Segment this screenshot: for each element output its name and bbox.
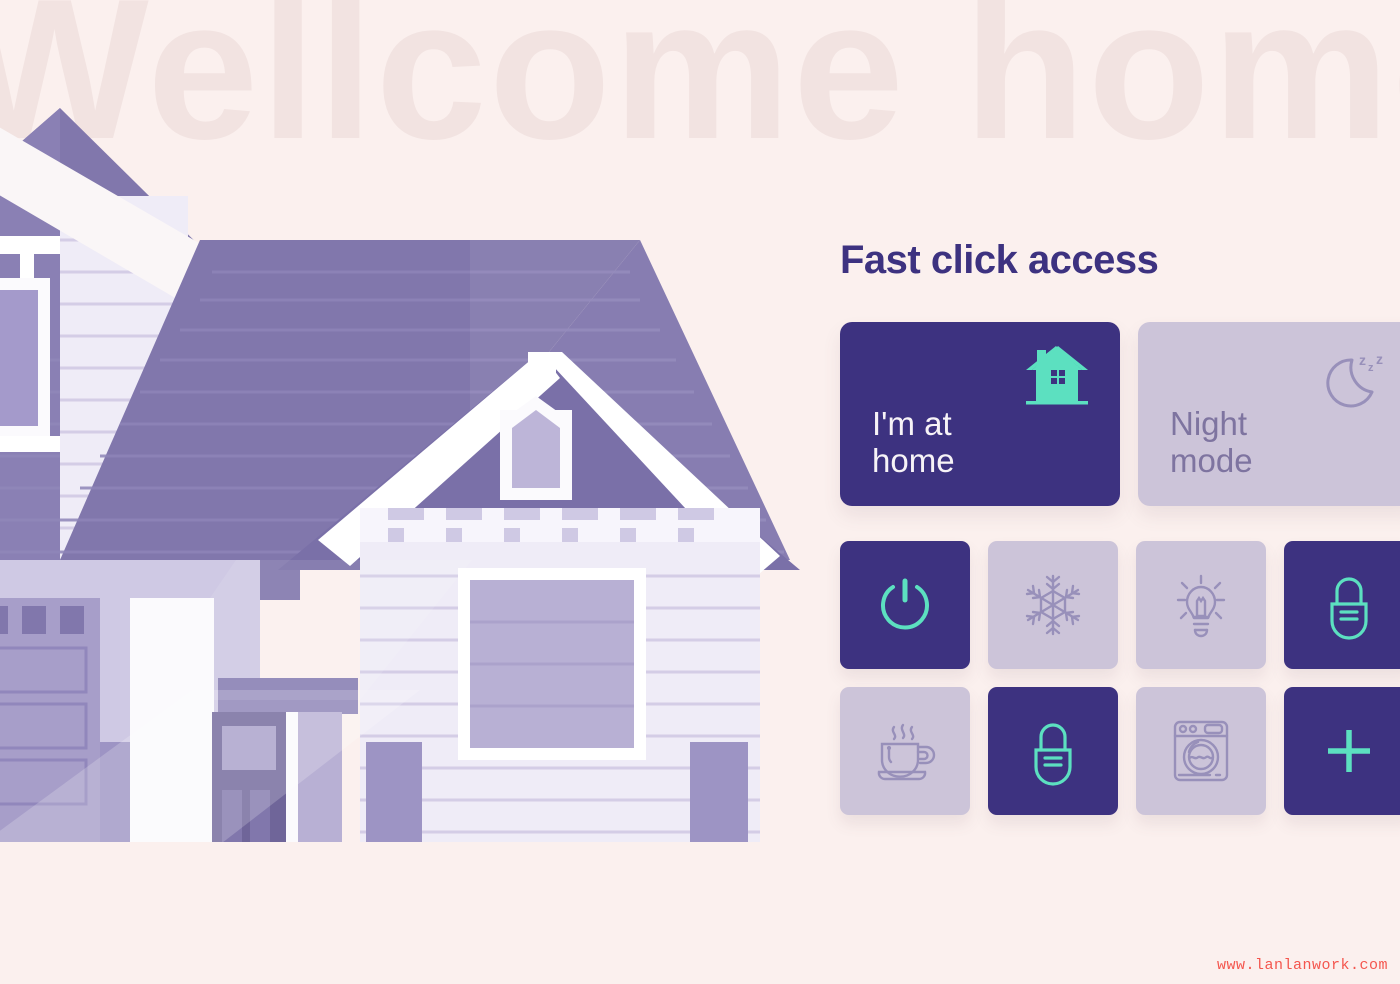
site-watermark: www.lanlanwork.com bbox=[1217, 957, 1388, 974]
tile-lights[interactable] bbox=[1136, 541, 1266, 669]
tile-lock-secondary[interactable] bbox=[988, 687, 1118, 815]
coffee-cup-icon bbox=[868, 714, 942, 788]
svg-text:z: z bbox=[1368, 362, 1374, 374]
card-label-night-mode: Night mode bbox=[1170, 406, 1253, 480]
snowflake-icon bbox=[1016, 568, 1090, 642]
tile-air-conditioning[interactable] bbox=[988, 541, 1118, 669]
fast-access-panel: Fast click access bbox=[840, 240, 1400, 815]
house-illustration bbox=[0, 0, 800, 860]
svg-text:z: z bbox=[1359, 352, 1366, 368]
power-icon bbox=[868, 568, 942, 642]
card-night-mode[interactable]: z z z Night mode bbox=[1138, 322, 1400, 506]
tile-laundry[interactable] bbox=[1136, 687, 1266, 815]
lightbulb-icon bbox=[1164, 568, 1238, 642]
tile-coffee[interactable] bbox=[840, 687, 970, 815]
house-icon bbox=[1020, 340, 1094, 414]
plus-icon bbox=[1312, 714, 1386, 788]
tile-lock[interactable] bbox=[1284, 541, 1400, 669]
quick-tile-grid bbox=[840, 541, 1400, 815]
tile-add[interactable] bbox=[1284, 687, 1400, 815]
page-title: Fast click access bbox=[840, 240, 1400, 280]
lock-icon bbox=[1016, 714, 1090, 788]
washing-machine-icon bbox=[1164, 714, 1238, 788]
lock-icon bbox=[1312, 568, 1386, 642]
card-label-im-at-home: I'm at home bbox=[872, 406, 955, 480]
tile-power[interactable] bbox=[840, 541, 970, 669]
moon-zzz-icon: z z z bbox=[1318, 340, 1392, 414]
app-screen: Wellcome home bbox=[0, 0, 1400, 984]
card-im-at-home[interactable]: I'm at home bbox=[840, 322, 1120, 506]
svg-text:z: z bbox=[1376, 351, 1383, 367]
mode-card-row: I'm at home z z z Night mode bbox=[840, 322, 1400, 506]
